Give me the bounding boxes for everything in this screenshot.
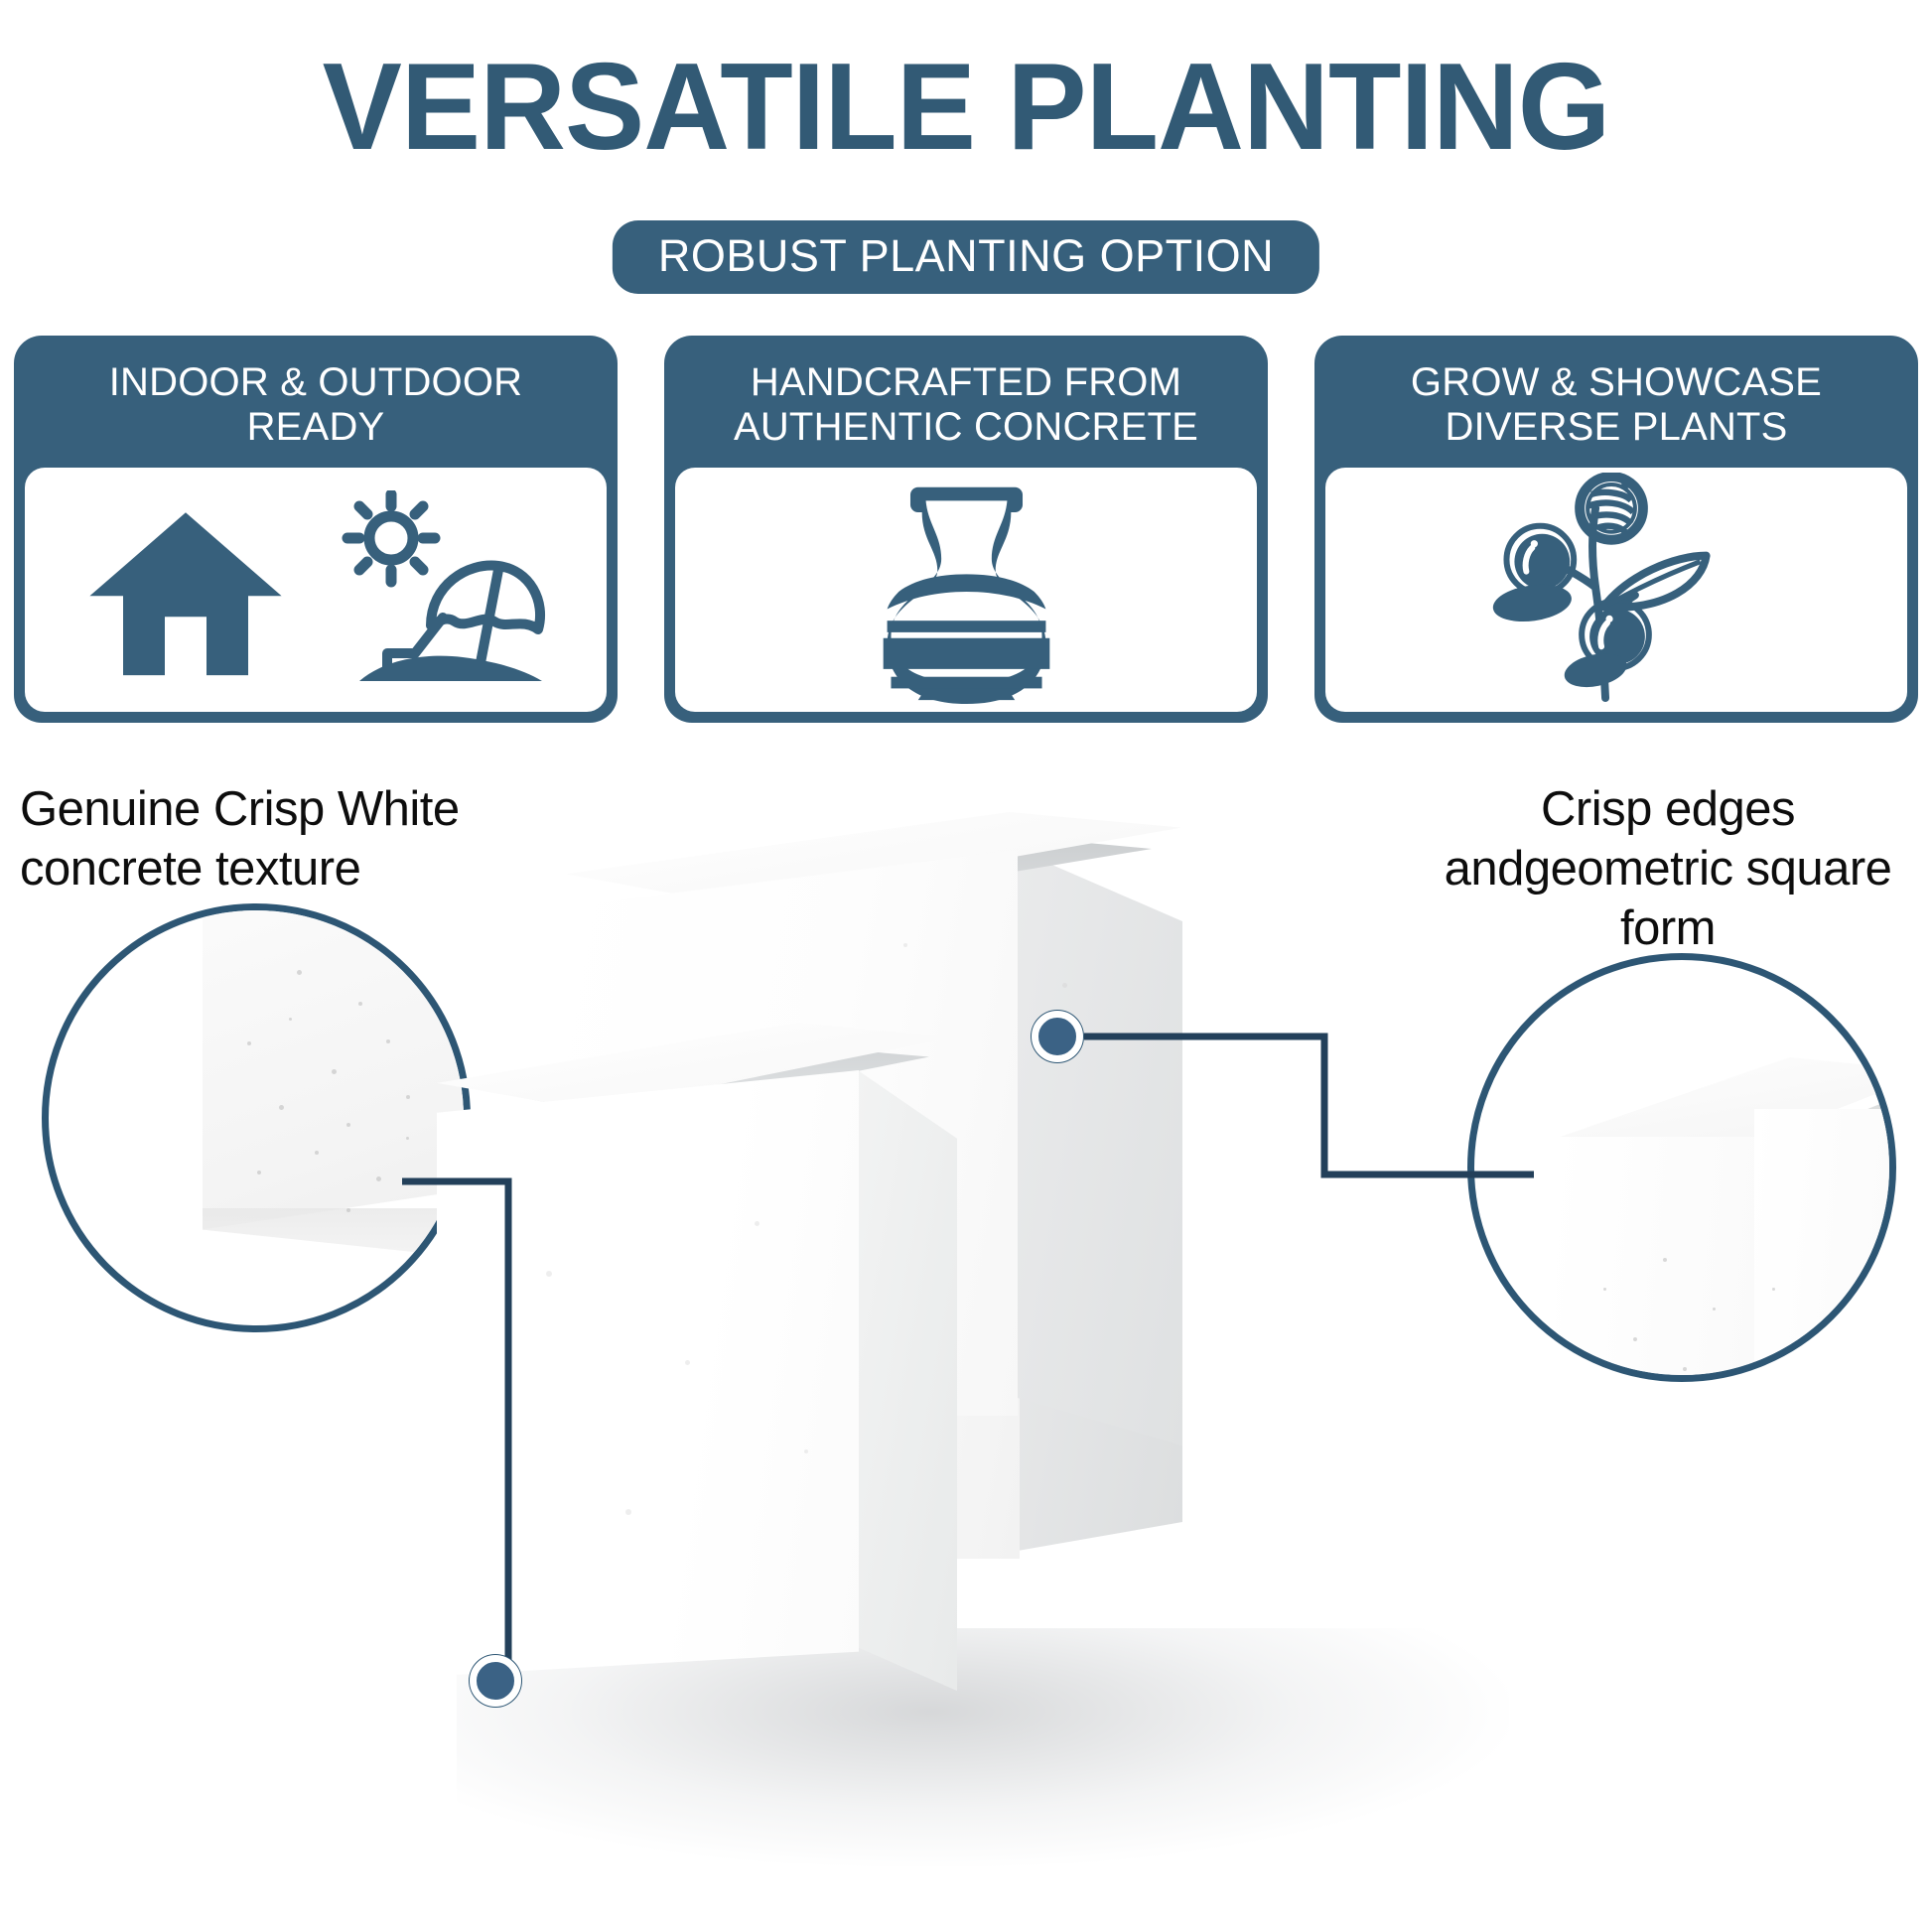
infographic-canvas: VERSATILE PLANTING ROBUST PLANTING OPTIO…: [0, 0, 1932, 1932]
callout-marker-back-planter[interactable]: [1031, 1010, 1084, 1063]
connector-line-right: [0, 0, 1932, 1932]
callout-marker-front-planter[interactable]: [469, 1654, 522, 1708]
